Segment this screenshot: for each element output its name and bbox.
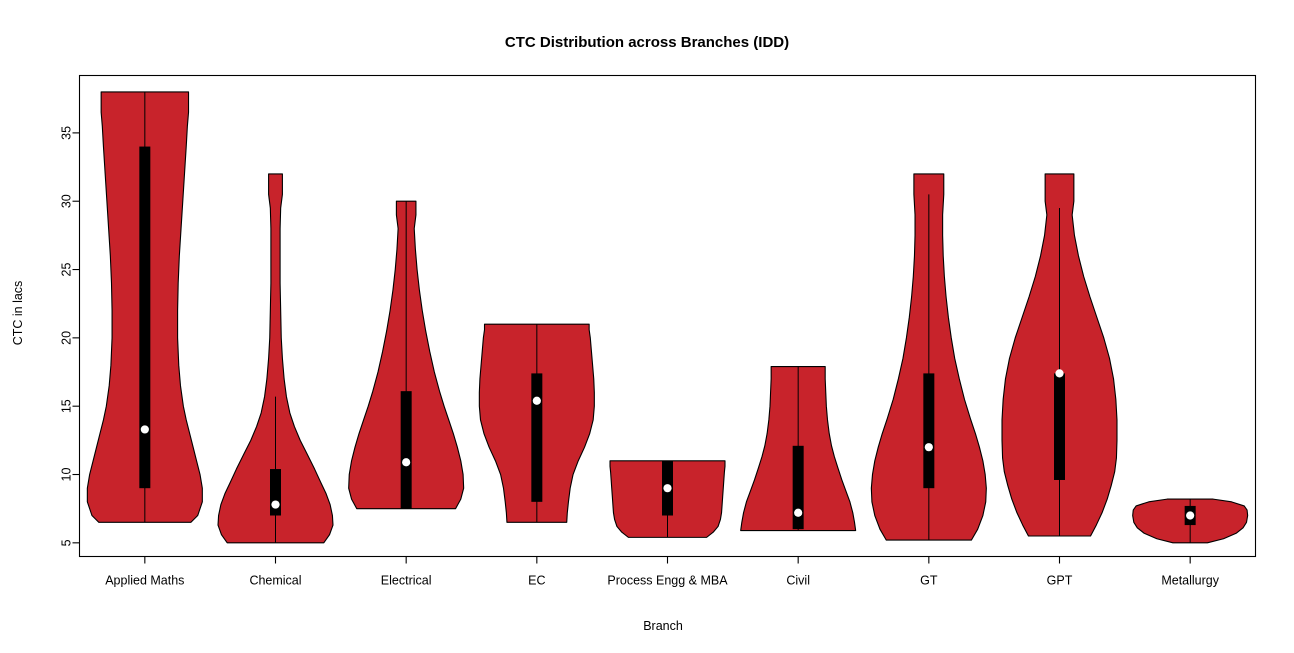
y-tick-label: 35 xyxy=(60,126,74,140)
page-title: CTC Distribution across Branches (IDD) xyxy=(505,34,789,51)
median-marker xyxy=(402,458,410,466)
median-marker xyxy=(1186,511,1194,519)
median-marker xyxy=(663,484,671,492)
x-tick-label-gpt: GPT xyxy=(1047,574,1073,588)
y-axis-label: CTC in lacs xyxy=(11,281,25,346)
median-marker xyxy=(271,500,279,508)
violin-process-engg-mba xyxy=(610,461,725,538)
iqr-box xyxy=(401,391,412,509)
median-marker xyxy=(925,443,933,451)
y-tick-label: 25 xyxy=(60,263,74,277)
y-tick-label: 15 xyxy=(60,399,74,413)
y-tick-label: 10 xyxy=(60,468,74,482)
y-tick-label: 5 xyxy=(60,539,74,546)
chart-canvas: CTC Distribution across Branches (IDD) C… xyxy=(0,0,1294,653)
median-marker xyxy=(794,509,802,517)
iqr-box xyxy=(1054,373,1065,480)
violin-metallurgy xyxy=(1133,499,1248,543)
x-axis-label: Branch xyxy=(643,619,683,633)
median-marker xyxy=(533,397,541,405)
iqr-box xyxy=(531,373,542,501)
x-tick-label-chemical: Chemical xyxy=(249,574,301,588)
x-tick-label-ec: EC xyxy=(528,574,545,588)
x-tick-label-process-engg-mba: Process Engg & MBA xyxy=(607,574,728,588)
violin-plot-figure: CTC Distribution across Branches (IDD) C… xyxy=(0,0,1294,653)
median-marker xyxy=(141,425,149,433)
x-tick-label-applied-maths: Applied Maths xyxy=(105,574,184,588)
x-tick-label-gt: GT xyxy=(920,574,938,588)
x-tick-label-metallurgy: Metallurgy xyxy=(1161,574,1219,588)
y-tick-label: 20 xyxy=(60,331,74,345)
iqr-box xyxy=(139,147,150,489)
median-marker xyxy=(1055,369,1063,377)
y-tick-label: 30 xyxy=(60,194,74,208)
x-tick-label-electrical: Electrical xyxy=(381,574,432,588)
x-tick-label-civil: Civil xyxy=(786,574,810,588)
iqr-box xyxy=(923,373,934,488)
